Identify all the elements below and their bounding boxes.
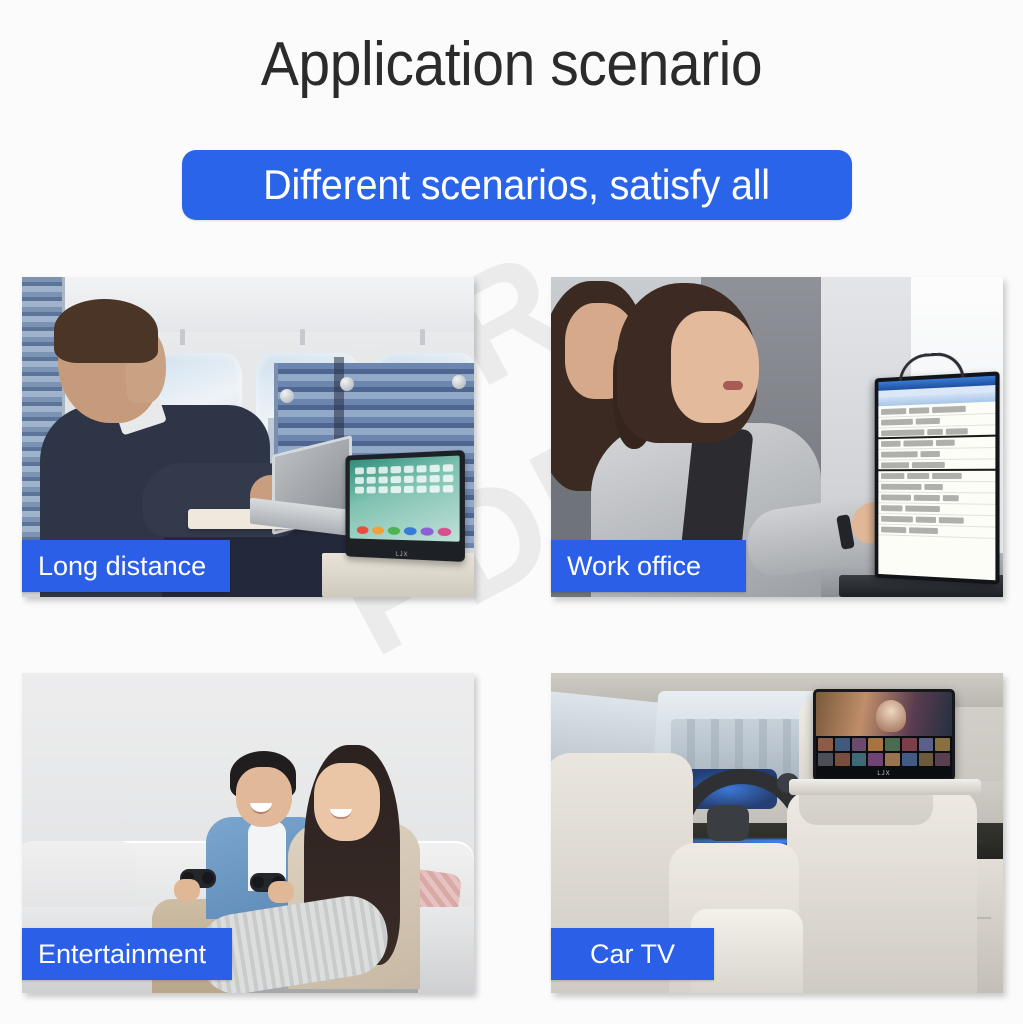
seat-knob	[452, 375, 466, 389]
steering-wheel-hub	[707, 805, 749, 841]
page-title: Application scenario	[41, 28, 982, 102]
presenter-face	[671, 311, 759, 423]
boy-face	[236, 767, 292, 827]
video-hero-banner	[816, 692, 952, 736]
scenario-label-long-distance: Long distance	[22, 540, 230, 592]
portable-monitor: LJX	[345, 450, 465, 562]
monitor-app-grid	[355, 464, 453, 493]
portable-monitor: LJX	[813, 689, 955, 781]
portable-monitor-screen	[878, 376, 995, 581]
portable-monitor	[875, 371, 1000, 584]
seat-knob	[340, 377, 354, 391]
seat-knob	[280, 389, 294, 403]
scenario-card-entertainment[interactable]: Entertainment	[22, 673, 474, 993]
spreadsheet-rows	[878, 403, 995, 581]
subtitle-text: Different scenarios, satisfy all	[264, 162, 771, 208]
boy-hand	[174, 879, 200, 901]
monitor-headrest-mount	[789, 779, 981, 795]
application-scenario-page: Application scenario Different scenarios…	[0, 0, 1023, 1024]
scenario-label-entertainment: Entertainment	[22, 928, 232, 980]
scenario-label-work-office: Work office	[551, 540, 746, 592]
girl-face	[314, 763, 380, 841]
video-thumbnail-grid	[818, 738, 950, 766]
scenario-card-long-distance[interactable]: LJX Long distance	[22, 277, 474, 597]
monitor-dock	[357, 526, 451, 536]
portable-monitor-screen: LJX	[816, 692, 952, 778]
scenario-label-car-tv: Car TV	[551, 928, 714, 980]
scenario-card-car-tv[interactable]: LJX Car TV	[551, 673, 1003, 993]
presenter-lips	[723, 381, 743, 390]
girl-hand	[268, 881, 294, 903]
passenger-hair	[54, 299, 158, 363]
monitor-brand-logo: LJX	[816, 771, 952, 777]
scenario-card-work-office[interactable]: Work office	[551, 277, 1003, 597]
subtitle-banner: Different scenarios, satisfy all	[182, 150, 852, 220]
portable-monitor-screen	[350, 456, 460, 542]
